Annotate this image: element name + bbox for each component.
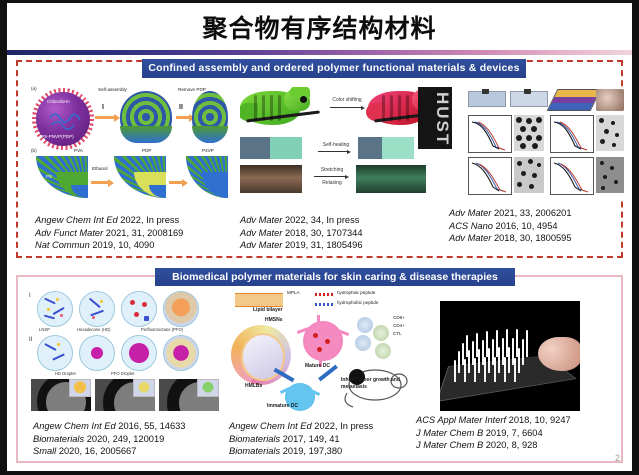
- needle: [514, 358, 516, 382]
- label-ethanol: Ethanol: [92, 166, 108, 171]
- citation-journal: Angew Chem Int Ed: [35, 215, 118, 225]
- citation-journal: Adv Mater: [449, 233, 491, 243]
- emulsion-legend-2: Hexadecane (HD): [77, 327, 111, 332]
- citation-detail: 2016, 55, 14633: [116, 421, 186, 431]
- citation-item: Small 2020, 16, 2005667: [33, 445, 185, 458]
- citation-item: Biomaterials 2020, 249, 120019: [33, 433, 185, 446]
- citation-journal: ACS Appl Mater Interf: [416, 415, 506, 425]
- label-stretching: Stretching: [312, 167, 352, 173]
- figure-device-transfer-curves: [466, 89, 626, 201]
- label-pva: PVA: [74, 148, 83, 153]
- legend-hydrophilic-peptide: hydrophilic peptide: [337, 291, 375, 295]
- citation-item: Adv Funct Mater 2021, 31, 2008169: [35, 227, 183, 240]
- droplet-2d-capsule: [163, 335, 199, 371]
- lipid-bilayer-diagram: [235, 293, 283, 307]
- citation-item: Adv Mater 2022, 34, In press: [240, 214, 363, 227]
- citation-item: J Mater Chem B 2020, 8, 928: [416, 439, 571, 452]
- sem-porous-4: [596, 157, 624, 193]
- tem-image-2: [95, 379, 155, 411]
- citation-journal: Angew Chem Int Ed: [229, 421, 312, 431]
- plot-transfer-3: [468, 157, 512, 195]
- page-title: 聚合物有序结构材料: [7, 9, 632, 45]
- quadrant-stage-3: [186, 156, 228, 198]
- t-cell-4: [375, 343, 391, 359]
- citation-journal: Angew Chem Int Ed: [33, 421, 116, 431]
- needle: [518, 348, 520, 373]
- citation-detail: 2022, In press: [118, 215, 180, 225]
- quadrant-stage-1: PS: [36, 156, 88, 198]
- needle: [478, 349, 480, 373]
- t-cell-3: [355, 335, 371, 351]
- legend-label-hd: Hexadecane (HD): [77, 327, 111, 332]
- chameleon-green: [240, 87, 326, 133]
- swatch-healed-left-dark: [240, 137, 270, 159]
- label-relaxing: Relaxing: [312, 180, 352, 186]
- citation-journal: Adv Mater: [240, 215, 282, 225]
- arrow-stretching: [314, 176, 346, 177]
- needle: [488, 348, 490, 373]
- citation-item: Angew Chem Int Ed 2022, In press: [35, 214, 183, 227]
- citation-detail: 2021, 31, 2008169: [103, 228, 183, 238]
- needle: [526, 330, 528, 357]
- legend-label-pfo-droplet: PFO Droplet: [111, 371, 134, 376]
- emulsion-legend-5: PFO Droplet: [111, 371, 134, 376]
- title-zone: 聚合物有序结构材料: [7, 3, 632, 50]
- citation-item: Adv Mater 2021, 33, 2006201: [449, 207, 572, 220]
- citations-section1-col2: Adv Mater 2022, 34, In press Adv Mater 2…: [240, 214, 363, 252]
- arrow-step-1: [95, 116, 115, 119]
- mature-dc-cell: [303, 321, 343, 361]
- citation-detail: 2017, 149, 41: [280, 434, 339, 444]
- citation-detail: 2016, 10, 4954: [493, 221, 558, 231]
- emulsion-legend-1: LNSP: [39, 327, 50, 332]
- legend-label-pfo: Perfluorooctane (PFO): [141, 327, 183, 332]
- citation-item: Biomaterials 2019, 197,380: [229, 445, 373, 458]
- citation-item: Adv Mater 2019, 31, 1805496: [240, 239, 363, 252]
- label-self-assembly: Self-assembly: [98, 87, 127, 92]
- swatch-healed-right-light: [382, 137, 414, 159]
- film-stretched: [356, 165, 426, 193]
- droplet-2a: [37, 335, 73, 371]
- label-remove-pdp: Remove PDP: [178, 87, 206, 92]
- section1-header-label: Confined assembly and ordered polymer fu…: [142, 59, 526, 78]
- hust-logo: HUST: [418, 87, 452, 149]
- needle: [474, 358, 476, 382]
- needle: [504, 357, 506, 382]
- tem-image-1: [31, 379, 91, 411]
- panel-b-marker: (b): [31, 148, 37, 153]
- fingertip-holding-patch: [538, 337, 580, 371]
- step-marker-II: II: [179, 104, 183, 111]
- citation-journal: ACS Nano: [449, 221, 493, 231]
- needle: [484, 357, 486, 382]
- citation-detail: 2020, 16, 2005667: [56, 446, 136, 456]
- slide-canvas: 聚合物有序结构材料 Confined assembly and ordered …: [7, 3, 632, 471]
- sem-porous-3: [514, 157, 544, 193]
- vesicle-base-1: [120, 126, 172, 143]
- needle: [508, 347, 510, 373]
- droplet-1b: [79, 291, 115, 327]
- citations-section2-col3: ACS Appl Mater Interf 2018, 10, 9247 J M…: [416, 414, 571, 452]
- legend-hydrophobic-peptide: hydrophobic peptide: [337, 300, 378, 305]
- citation-journal: Biomaterials: [33, 434, 84, 444]
- figure-immune-pathway: MPLA Lipid bilayer HMSNs HMLBs hydrophil…: [229, 291, 425, 415]
- label-ps-1: PS: [46, 174, 52, 179]
- page-number: 2: [615, 453, 620, 463]
- film-unstretched: [240, 165, 302, 193]
- emulsion-legend-4: HD Droplet: [55, 371, 76, 376]
- citation-item: Angew Chem Int Ed 2016, 55, 14633: [33, 420, 185, 433]
- citation-detail: 2018, 10, 9247: [506, 415, 571, 425]
- label-immature-dc: Immature DC: [267, 403, 298, 409]
- citation-detail: 2020, 249, 120019: [84, 434, 164, 444]
- plot-transfer-1: [468, 115, 512, 153]
- arrow-color-shift: [330, 107, 362, 108]
- label-p4vp: P4VP: [202, 148, 214, 153]
- droplet-1a: [37, 291, 73, 327]
- panel-a-marker: (a): [31, 86, 37, 91]
- citation-item: Adv Mater 2018, 30, 1800595: [449, 232, 572, 245]
- label-ctl: CTL: [393, 331, 402, 336]
- citations-section2-col2: Angew Chem Int Ed 2022, In press Biomate…: [229, 420, 373, 458]
- citation-journal: Adv Funct Mater: [35, 228, 103, 238]
- legend-hydrophilic-marker: [315, 293, 333, 296]
- citation-detail: 2019, 197,380: [280, 446, 342, 456]
- citation-journal: Biomaterials: [229, 434, 280, 444]
- label-inhibit-tumor: Inhibit tumor growth and metastasis: [341, 377, 409, 391]
- label-mpla: MPLA: [287, 291, 300, 295]
- citation-detail: 2022, 34, In press: [282, 215, 359, 225]
- citation-detail: 2020, 8, 928: [483, 440, 537, 450]
- needle: [458, 351, 460, 373]
- citation-journal: Nat Commun: [35, 240, 90, 250]
- citation-journal: J Mater Chem B: [416, 440, 483, 450]
- figure-emulsion-droplets: I LNSP Hexadecane (HD): [29, 291, 225, 411]
- legend-hydrophobic-marker: [315, 303, 333, 306]
- emulsion-legend-3: Perfluorooctane (PFO): [141, 327, 183, 332]
- needle: [464, 359, 466, 382]
- citation-item: Adv Mater 2018, 30, 1707344: [240, 227, 363, 240]
- t-cell-1: [357, 317, 373, 333]
- label-lipid-bilayer: Lipid bilayer: [253, 307, 282, 313]
- needle: [454, 360, 456, 382]
- stamp-tool-1: [482, 89, 489, 94]
- citations-section1-col1: Angew Chem Int Ed 2022, In press Adv Fun…: [35, 214, 183, 252]
- needle: [498, 347, 500, 373]
- panel-I-marker: I: [29, 293, 31, 299]
- vesicle-base-2: [192, 126, 228, 143]
- needle: [494, 357, 496, 382]
- arrow-ethanol: [91, 181, 109, 184]
- tem-image-3: [159, 379, 219, 411]
- citation-detail: 2019, 31, 1805496: [282, 240, 362, 250]
- citation-detail: 2019, 10, 4090: [90, 240, 155, 250]
- label-color-shifting: Color shifting: [326, 97, 368, 103]
- citation-item: Nat Commun 2019, 10, 4090: [35, 239, 183, 252]
- label-hmlbs: HMLBs: [245, 383, 262, 389]
- citation-journal: Biomaterials: [229, 446, 280, 456]
- sem-porous-1: [514, 115, 544, 151]
- label-chloroform: Chloroform: [47, 99, 70, 104]
- citation-detail: 2022, In press: [312, 421, 374, 431]
- citation-item: Biomaterials 2017, 149, 41: [229, 433, 373, 446]
- label-self-healing: Self-healing: [316, 142, 356, 148]
- droplet-2c: [121, 335, 157, 371]
- label-pdp: PDP: [142, 148, 151, 153]
- stamp-tool-2: [524, 89, 531, 94]
- label-hmsns: HMSNs: [265, 317, 283, 323]
- plot-transfer-2: [550, 115, 594, 153]
- citations-section1-col3: Adv Mater 2021, 33, 2006201 ACS Nano 201…: [449, 207, 572, 245]
- citation-detail: 2019, 7, 6604: [483, 428, 542, 438]
- citation-detail: 2018, 30, 1707344: [282, 228, 362, 238]
- figure-self-assembly: (a) Chloroform PS-PNVP(PDP) Self-assembl…: [30, 86, 228, 198]
- label-cd4: CD4+: [393, 323, 405, 328]
- swatch-healed-right-dark: [358, 137, 382, 159]
- citation-item: ACS Nano 2016, 10, 4954: [449, 220, 572, 233]
- droplet-2b: [79, 335, 115, 371]
- needle: [522, 339, 524, 365]
- citation-detail: 2018, 30, 1800595: [491, 233, 571, 243]
- arrow-step-2: [176, 116, 190, 119]
- droplet-1c: [121, 291, 157, 327]
- citation-item: Angew Chem Int Ed 2022, In press: [229, 420, 373, 433]
- label-copolymer: PS-PNVP(PDP): [41, 134, 74, 139]
- label-mature-dc: Mature DC: [305, 363, 330, 369]
- citation-journal: Small: [33, 446, 56, 456]
- section2-header-label: Biomedical polymer materials for skin ca…: [155, 268, 515, 286]
- arrow-final: [169, 181, 183, 184]
- needle: [468, 350, 470, 373]
- droplet-1d-capsule: [163, 291, 199, 327]
- title-gradient-rule: [7, 50, 632, 55]
- figure-microneedle-array: [440, 301, 580, 411]
- swatch-healed-left-light: [270, 137, 302, 159]
- citation-detail: 2021, 33, 2006201: [491, 208, 571, 218]
- citation-journal: Adv Mater: [449, 208, 491, 218]
- label-cd8: CD8+: [393, 315, 405, 320]
- arrow-self-healing: [318, 151, 348, 152]
- citation-journal: Adv Mater: [240, 240, 282, 250]
- t-cell-2: [373, 325, 389, 341]
- plot-transfer-4: [550, 157, 594, 195]
- quadrant-stage-2: [114, 156, 166, 198]
- sem-porous-2: [596, 115, 624, 151]
- step-marker-I: I: [102, 104, 104, 111]
- citations-section2-col1: Angew Chem Int Ed 2016, 55, 14633 Biomat…: [33, 420, 185, 458]
- photo-device-in-hand: [596, 89, 624, 111]
- legend-label-lnsp: LNSP: [39, 327, 50, 332]
- legend-label-hd-droplet: HD Droplet: [55, 371, 76, 376]
- device-3d-stack: [547, 89, 602, 111]
- citation-item: ACS Appl Mater Interf 2018, 10, 9247: [416, 414, 571, 427]
- panel-II-marker: II: [29, 337, 32, 343]
- citation-item: J Mater Chem B 2019, 7, 6604: [416, 427, 571, 440]
- micelle-sphere: Chloroform PS-PNVP(PDP): [36, 92, 90, 146]
- figure-color-shifting: Color shifting HUST Self-healing Stretch…: [240, 87, 452, 199]
- citation-journal: Adv Mater: [240, 228, 282, 238]
- citation-journal: J Mater Chem B: [416, 428, 483, 438]
